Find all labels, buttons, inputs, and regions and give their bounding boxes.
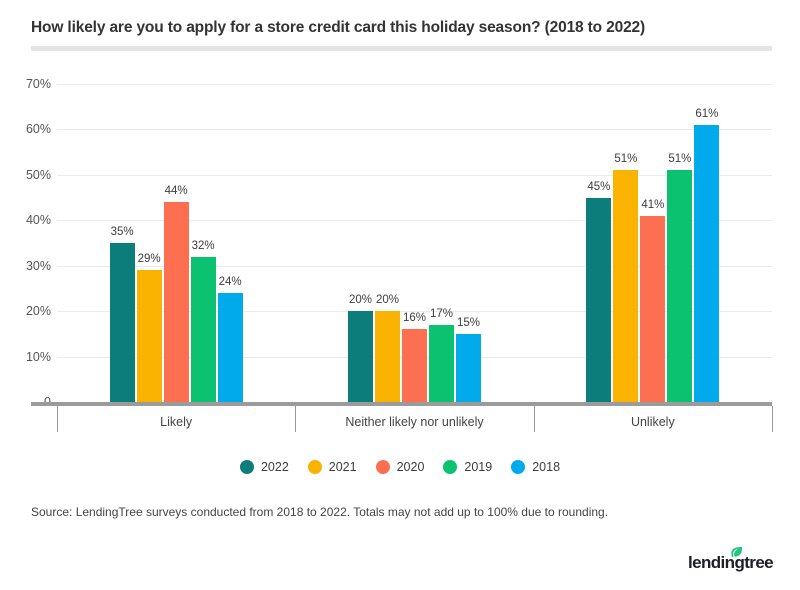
lendingtree-logo: lendingtree <box>688 546 780 576</box>
bar[interactable] <box>586 198 611 402</box>
bar-value-label: 45% <box>587 181 610 193</box>
legend-color-dot <box>376 460 390 474</box>
page-title: How likely are you to apply for a store … <box>31 19 773 37</box>
bar-value-label: 16% <box>403 312 426 324</box>
bar[interactable] <box>191 257 216 402</box>
legend-label: 2019 <box>464 460 492 474</box>
bar[interactable] <box>137 270 162 402</box>
legend-color-dot <box>511 460 525 474</box>
y-axis-tick-label: 20% <box>0 304 51 318</box>
bar[interactable] <box>613 170 638 402</box>
bar-value-label: 20% <box>349 294 372 306</box>
title-divider <box>31 46 772 51</box>
y-axis-tick-label: 50% <box>0 168 51 182</box>
source-note: Source: LendingTree surveys conducted fr… <box>31 505 608 519</box>
bar-value-label: 17% <box>430 308 453 320</box>
bar[interactable] <box>218 293 243 402</box>
bar[interactable] <box>429 325 454 402</box>
category-separator <box>295 406 296 432</box>
bar-value-label: 24% <box>219 276 242 288</box>
bar[interactable] <box>348 311 373 402</box>
bar-value-label: 44% <box>165 185 188 197</box>
bar-value-label: 20% <box>376 294 399 306</box>
bar-value-label: 35% <box>111 226 134 238</box>
legend-item[interactable]: 2022 <box>240 460 289 474</box>
bar[interactable] <box>402 329 427 402</box>
category-separator <box>534 406 535 432</box>
legend-label: 2018 <box>532 460 560 474</box>
y-axis-tick-label: 40% <box>0 213 51 227</box>
bar[interactable] <box>375 311 400 402</box>
bar-value-label: 41% <box>641 199 664 211</box>
bar[interactable] <box>164 202 189 402</box>
category-separator <box>772 406 773 432</box>
bar-value-label: 51% <box>614 153 637 165</box>
legend-color-dot <box>443 460 457 474</box>
y-axis-tick-label: 10% <box>0 350 51 364</box>
bar[interactable] <box>694 125 719 402</box>
x-axis-category-label: Likely <box>160 415 192 429</box>
gridline <box>57 84 772 85</box>
x-axis-category-label: Unlikely <box>631 415 675 429</box>
legend-item[interactable]: 2019 <box>443 460 492 474</box>
bar-value-label: 15% <box>457 317 480 329</box>
bar[interactable] <box>110 243 135 402</box>
chart-legend: 20222021202020192018 <box>0 460 800 474</box>
legend-color-dot <box>308 460 322 474</box>
y-axis-tick-label: 70% <box>0 77 51 91</box>
bar-value-label: 32% <box>192 240 215 252</box>
plot-area: 35%29%44%32%24%20%20%16%17%15%45%51%41%5… <box>57 84 772 402</box>
x-axis-category-label: Neither likely nor unlikely <box>345 415 483 429</box>
bar[interactable] <box>640 216 665 402</box>
legend-label: 2020 <box>397 460 425 474</box>
legend-label: 2021 <box>329 460 357 474</box>
gridline <box>57 129 772 130</box>
legend-label: 2022 <box>261 460 289 474</box>
bar[interactable] <box>456 334 481 402</box>
gridline <box>57 175 772 176</box>
y-axis-tick-label: 30% <box>0 259 51 273</box>
bar-value-label: 51% <box>668 153 691 165</box>
y-axis-tick-label: 60% <box>0 122 51 136</box>
logo-wordmark: lendingtree <box>688 553 773 573</box>
chart-canvas: How likely are you to apply for a store … <box>0 0 800 590</box>
legend-color-dot <box>240 460 254 474</box>
bar[interactable] <box>667 170 692 402</box>
category-separator <box>57 406 58 432</box>
legend-item[interactable]: 2020 <box>376 460 425 474</box>
bar-value-label: 29% <box>138 253 161 265</box>
x-axis-line <box>31 402 772 406</box>
legend-item[interactable]: 2018 <box>511 460 560 474</box>
bar-value-label: 61% <box>695 108 718 120</box>
legend-item[interactable]: 2021 <box>308 460 357 474</box>
